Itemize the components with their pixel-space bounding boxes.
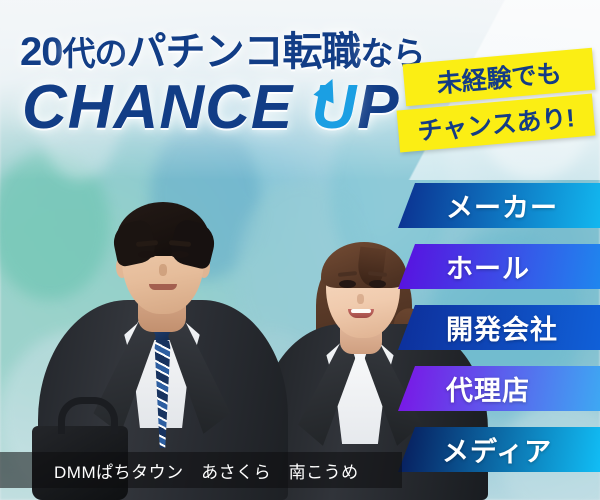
brand-logo: CHANCE UP xyxy=(22,72,400,143)
man-mouth xyxy=(149,284,177,290)
category-list: メーカー ホール 開発会社 代理店 メディア xyxy=(398,183,600,488)
category-label: 開発会社 xyxy=(446,308,558,347)
woman-eye-right xyxy=(369,280,386,288)
credit-caption: DMMぱちタウン あさくら 南こうめ xyxy=(0,452,402,488)
woman-nose xyxy=(357,294,364,304)
woman-teeth xyxy=(351,309,371,313)
category-label: メーカー xyxy=(446,186,558,225)
page-title: 20代のパチンコ転職なら xyxy=(20,19,425,77)
category-label: 代理店 xyxy=(446,369,530,408)
woman-eye-left xyxy=(339,280,356,288)
highlight-badge: 未経験でも チャンスあり! xyxy=(396,52,600,160)
man-eye-right xyxy=(171,251,189,258)
category-item-media[interactable]: メディア xyxy=(398,427,600,472)
logo-word-chance: CHANCE xyxy=(22,73,293,142)
man-eye-left xyxy=(138,251,156,258)
logo-letter-p: P xyxy=(357,73,399,142)
headline-age: 20 xyxy=(20,30,63,74)
logo-letter-u: U xyxy=(311,72,357,143)
category-item-hall[interactable]: ホール xyxy=(398,244,600,289)
category-item-developer[interactable]: 開発会社 xyxy=(398,305,600,350)
business-bag-left-handle xyxy=(58,397,118,434)
category-item-agency[interactable]: 代理店 xyxy=(398,366,600,411)
recruitment-banner[interactable]: 20代のパチンコ転職なら CHANCE UP 未経験でも チャンスあり! メーカ… xyxy=(0,0,600,500)
category-label: ホール xyxy=(446,247,530,286)
credit-caption-text: DMMぱちタウン あさくら 南こうめ xyxy=(54,458,359,483)
man-nose xyxy=(159,264,167,276)
category-item-maker[interactable]: メーカー xyxy=(398,183,600,228)
headline-keyword: パチンコ転職 xyxy=(127,30,361,74)
category-label: メディア xyxy=(442,430,552,469)
headline-unit: 代の xyxy=(63,35,127,72)
